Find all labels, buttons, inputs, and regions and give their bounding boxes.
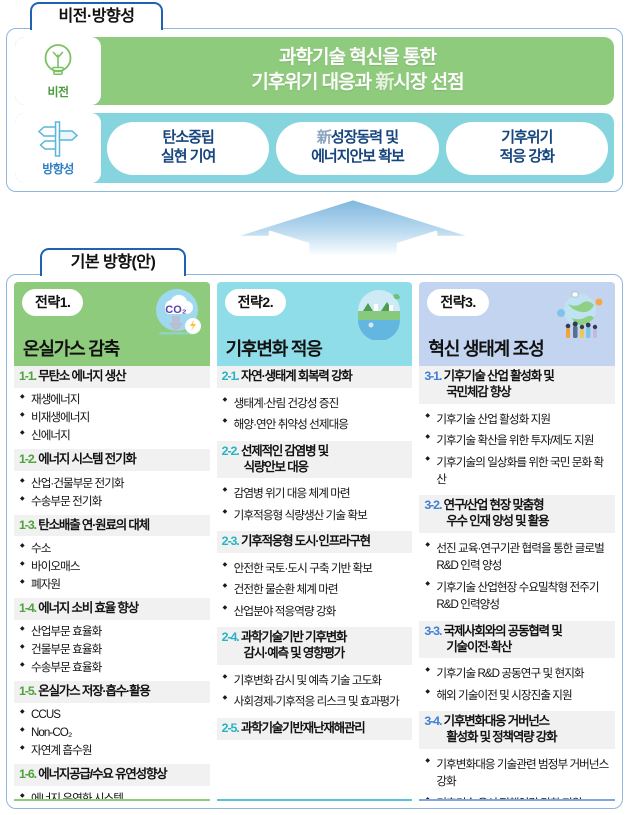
group-num: 1-3.: [19, 518, 36, 532]
group-1-1-header[interactable]: 1-1. 무탄소 에너지 생산: [14, 366, 210, 388]
list-item: 자연계 흡수원: [20, 743, 206, 759]
list-item: 기후기술 R&D 공동연구 및 현지화: [425, 665, 611, 682]
strategy-3-header: 전략3.: [419, 282, 615, 366]
group-2-3-header[interactable]: 2-3. 기후적응형 도시·인프라구현: [217, 531, 413, 553]
direction-icon-cell: 방향성: [15, 113, 101, 183]
group-title: 기후변화대응 거버넌스: [444, 714, 549, 728]
strategy-3-body: 3-1. 기후기술 산업 활성화 및국민체감 향상 기후기술 산업 활성화 지원…: [419, 366, 615, 801]
group-1-6-header[interactable]: 1-6. 에너지공급/수요 유연성향상: [14, 764, 210, 786]
group-3-2-header[interactable]: 3-2. 연구/산업 현장 맞춤형우수 인재 양성 및 활용: [419, 495, 615, 533]
group-title-2: 감시·예측 및 영향평가: [222, 646, 408, 662]
group-3-4-items: 기후변화대응 기술관련 범정부 거버넌스 강화 기후기술 육성 정책역량 강화 …: [419, 749, 615, 801]
lightbulb-icon: [37, 42, 79, 82]
direction-pill-2[interactable]: 新성장동력 및 에너지안보 확보: [276, 122, 438, 175]
list-item: 산업부문 효율화: [20, 624, 206, 640]
direction-pill-group: 탄소중립 실현 기여 新성장동력 및 에너지안보 확보 기후위기 적응 강화: [101, 113, 614, 183]
strategy-1-body: 1-1. 무탄소 에너지 생산 재생에너지 비재생에너지 신에너지 1-2. 에…: [14, 366, 210, 801]
list-item: 수송부문 효율화: [20, 660, 206, 676]
group-1-3-header[interactable]: 1-3. 탄소배출 연·원료의 대체: [14, 515, 210, 537]
list-item: 바이오매스: [20, 559, 206, 575]
vision-caption: 비전: [47, 83, 68, 100]
group-2-2-items: 감염병 위기 대응 체계 마련 기후적응형 식량생산 기술 확보: [217, 478, 413, 531]
group-1-1-items: 재생에너지 비재생에너지 신에너지: [14, 388, 210, 449]
group-1-5-items: CCUS Non-CO₂ 자연계 흡수원: [14, 703, 210, 764]
group-2-1-items: 생태계·산림 건강성 증진 해양·연안 취약성 선제대응: [217, 388, 413, 441]
group-num: 1-4.: [19, 601, 36, 615]
svg-text:CO₂: CO₂: [165, 304, 187, 316]
list-item: 감염병 위기 대응 체계 마련: [223, 485, 409, 502]
vision-line-2a: 기후위기 대응과: [251, 72, 375, 93]
pill-2-prefix: 新: [317, 129, 331, 146]
strategy-2-header: 전략2. 기후변화 적응: [217, 282, 413, 366]
group-3-3-header[interactable]: 3-3. 국제사회와의 공동협력 및기술이전·확산: [419, 621, 615, 659]
list-item: 건전한 물순환 체계 마련: [223, 581, 409, 598]
group-title-2: 우수 인재 양성 및 활용: [424, 514, 610, 530]
strategy-column-3: 전략3.: [419, 282, 615, 801]
list-item: 기후기술 산업 활성화 지원: [425, 411, 611, 428]
vision-line-1: 과학기술 혁신을 통한: [279, 47, 436, 68]
strategy-3-badge: 전략3.: [427, 289, 488, 316]
list-item: CCUS: [20, 707, 206, 723]
vision-icon-cell: 비전: [15, 37, 101, 105]
group-num: 2-4.: [222, 630, 239, 644]
group-3-3-items: 기후기술 R&D 공동연구 및 현지화 해외 기술이전 및 시장진출 지원: [419, 658, 615, 711]
group-2-4-items: 기후변화 감시 및 예측 기술 고도화 사회경제-기후적응 리스크 및 효과평가: [217, 665, 413, 718]
group-2-3-items: 안전한 국토·도시 구축 기반 확보 건전한 물순환 체계 마련 산업분야 적응…: [217, 553, 413, 627]
globe-people-icon: [552, 286, 608, 340]
group-2-5-header[interactable]: 2-5. 과학기술기반재난재해관리: [217, 718, 413, 740]
group-title: 에너지 소비 효율 향상: [38, 601, 138, 615]
list-item: 선진 교육·연구기관 협력을 통한 글로벌 R&D 인력 양성: [425, 540, 611, 575]
pill-1-line-2: 실현 기여: [161, 148, 215, 165]
group-num: 3-1.: [424, 369, 441, 383]
pill-1-line-1: 탄소중립: [163, 129, 214, 146]
list-item: 해양·연안 취약성 선제대응: [223, 416, 409, 433]
group-1-2-header[interactable]: 1-2. 에너지 시스템 전기화: [14, 449, 210, 471]
group-2-4-header[interactable]: 2-4. 과학기술기반 기후변화감시·예측 및 영향평가: [217, 627, 413, 665]
group-2-1-header[interactable]: 2-1. 자연·생태계 회복력 강화: [217, 366, 413, 388]
landscape-circle-icon: [349, 286, 405, 340]
direction-pill-1[interactable]: 탄소중립 실현 기여: [107, 122, 269, 175]
pill-2-line-2: 에너지안보 확보: [311, 148, 404, 165]
list-item: 기후기술 육성 정책역량 강화 지원: [425, 795, 611, 801]
list-item: 생태계·산림 건강성 증진: [223, 395, 409, 412]
list-item: 산업·건물부문 전기화: [20, 476, 206, 492]
strategy-2-title: 기후변화 적응: [226, 335, 322, 361]
infographic-page: 비전·방향성 비전 과학기술 혁신을 통한 기후위기 대응과 新시장 선점: [0, 0, 629, 815]
list-item: 폐자원: [20, 577, 206, 593]
list-item: 산업분야 적응역량 강화: [223, 603, 409, 620]
vision-panel: 비전 과학기술 혁신을 통한 기후위기 대응과 新시장 선점 방향성: [6, 28, 623, 192]
group-num: 1-2.: [19, 452, 36, 466]
pill-3-line-1: 기후위기: [501, 129, 552, 146]
basic-section-tab: 기본 방향(안): [40, 248, 186, 276]
vision-line-2b: 新: [375, 72, 393, 93]
group-3-1-header[interactable]: 3-1. 기후기술 산업 활성화 및국민체감 향상: [419, 366, 615, 404]
group-num: 1-1.: [19, 369, 36, 383]
direction-caption: 방향성: [42, 160, 74, 177]
group-3-4-header[interactable]: 3-4. 기후변화대응 거버넌스활성화 및 정책역량 강화: [419, 711, 615, 749]
list-item: 기후변화 감시 및 예측 기술 고도화: [223, 672, 409, 689]
group-title: 기후적응형 도시·인프라구현: [241, 534, 370, 548]
group-1-4-header[interactable]: 1-4. 에너지 소비 효율 향상: [14, 598, 210, 620]
group-title: 에너지공급/수요 유연성향상: [38, 767, 166, 781]
co2-cloud-icon: CO₂: [147, 286, 203, 340]
list-item: 사회경제-기후적응 리스크 및 효과평가: [223, 693, 409, 710]
group-1-5-header[interactable]: 1-5. 온실가스 저장·흡수·활용: [14, 681, 210, 703]
strategy-column-1: 전략1. CO₂ 온실가스 감축 1-1. 무탄소 에너지 생산 재생에너지 비…: [14, 282, 210, 801]
vision-line-2c: 시장 선점: [393, 72, 463, 93]
direction-row: 방향성 탄소중립 실현 기여 新성장동력 및 에너지안보 확보: [15, 113, 614, 183]
group-num: 3-3.: [424, 624, 441, 638]
group-title: 온실가스 저장·흡수·활용: [38, 684, 149, 698]
list-item: 수소: [20, 541, 206, 557]
group-1-6-items: 에너지 유연화 시스템 차세대 전력망·열에너지망: [14, 786, 210, 801]
group-num: 3-4.: [424, 714, 441, 728]
list-item: 기후변화대응 기술관련 범정부 거버넌스 강화: [425, 756, 611, 791]
list-item: 건물부문 효율화: [20, 642, 206, 658]
vision-statement: 과학기술 혁신을 통한 기후위기 대응과 新시장 선점: [101, 37, 614, 105]
strategy-3-title: 혁신 생태계 조성: [428, 335, 543, 361]
list-item: 기후기술의 일상화를 위한 국민 문화 확산: [425, 454, 611, 489]
group-title-2: 식량안보 대응: [222, 460, 408, 476]
group-1-3-items: 수소 바이오매스 폐자원: [14, 536, 210, 597]
group-title-2: 활성화 및 정책역량 강화: [424, 730, 610, 746]
vision-row: 비전 과학기술 혁신을 통한 기후위기 대응과 新시장 선점: [15, 37, 614, 105]
list-item: 수송부문 전기화: [20, 494, 206, 510]
group-title: 과학기술기반 기후변화: [241, 630, 346, 644]
vision-section-tab: 비전·방향성: [30, 2, 163, 30]
group-2-2-header[interactable]: 2-2. 선제적인 감염병 및식량안보 대응: [217, 441, 413, 479]
group-1-2-items: 산업·건물부문 전기화 수송부문 전기화: [14, 471, 210, 514]
group-title: 연구/산업 현장 맞춤형: [444, 498, 544, 512]
signpost-icon: [34, 119, 82, 159]
strategy-1-badge: 전략1.: [22, 289, 83, 316]
list-item: 기후기술 확산을 위한 투자/제도 지원: [425, 432, 611, 449]
group-3-1-items: 기후기술 산업 활성화 지원 기후기술 확산을 위한 투자/제도 지원 기후기술…: [419, 404, 615, 496]
group-title: 에너지 시스템 전기화: [38, 452, 135, 466]
list-item: Non-CO₂: [20, 725, 206, 741]
group-1-4-items: 산업부문 효율화 건물부문 효율화 수송부문 효율화: [14, 620, 210, 681]
group-num: 3-2.: [424, 498, 441, 512]
list-item: 에너지 유연화 시스템: [20, 791, 206, 801]
group-3-2-items: 선진 교육·연구기관 협력을 통한 글로벌 R&D 인력 양성 기후기술 산업현…: [419, 533, 615, 621]
group-num: 1-5.: [19, 684, 36, 698]
strategy-2-body: 2-1. 자연·생태계 회복력 강화 생태계·산림 건강성 증진 해양·연안 취…: [217, 366, 413, 801]
group-num: 2-5.: [222, 721, 239, 735]
group-title: 선제적인 감염병 및: [241, 444, 328, 458]
list-item: 재생에너지: [20, 392, 206, 408]
group-title: 탄소배출 연·원료의 대체: [38, 518, 149, 532]
direction-pill-3[interactable]: 기후위기 적응 강화: [446, 122, 608, 175]
group-title: 기후기술 산업 활성화 및: [444, 369, 554, 383]
strategy-columns: 전략1. CO₂ 온실가스 감축 1-1. 무탄소 에너지 생산 재생에너지 비…: [6, 274, 623, 809]
group-num: 1-6.: [19, 767, 36, 781]
group-num: 2-3.: [222, 534, 239, 548]
group-num: 2-1.: [222, 369, 239, 383]
group-title: 국제사회와의 공동협력 및: [444, 624, 562, 638]
up-arrow-icon: [228, 196, 478, 258]
list-item: 기후기술 산업현장 수요밀착형 전주기 R&D 인력양성: [425, 579, 611, 614]
pill-2-line-1: 성장동력 및: [331, 129, 398, 146]
list-item: 신에너지: [20, 428, 206, 444]
list-item: 비재생에너지: [20, 410, 206, 426]
pill-3-line-2: 적응 강화: [500, 148, 554, 165]
strategy-1-header: 전략1. CO₂ 온실가스 감축: [14, 282, 210, 366]
list-item: 기후적응형 식량생산 기술 확보: [223, 507, 409, 524]
group-title: 과학기술기반재난재해관리: [241, 721, 365, 735]
strategy-column-2: 전략2. 기후변화 적응 2-1. 자연·생태계 회복력 강화 생: [217, 282, 413, 801]
group-title: 자연·생태계 회복력 강화: [241, 369, 352, 383]
group-num: 2-2.: [222, 444, 239, 458]
strategy-2-badge: 전략2.: [225, 289, 286, 316]
list-item: 해외 기술이전 및 시장진출 지원: [425, 687, 611, 704]
group-title-2: 국민체감 향상: [424, 385, 610, 401]
strategy-1-title: 온실가스 감축: [23, 335, 119, 361]
group-title: 무탄소 에너지 생산: [38, 369, 125, 383]
group-title-2: 기술이전·확산: [424, 640, 610, 656]
list-item: 안전한 국토·도시 구축 기반 확보: [223, 560, 409, 577]
